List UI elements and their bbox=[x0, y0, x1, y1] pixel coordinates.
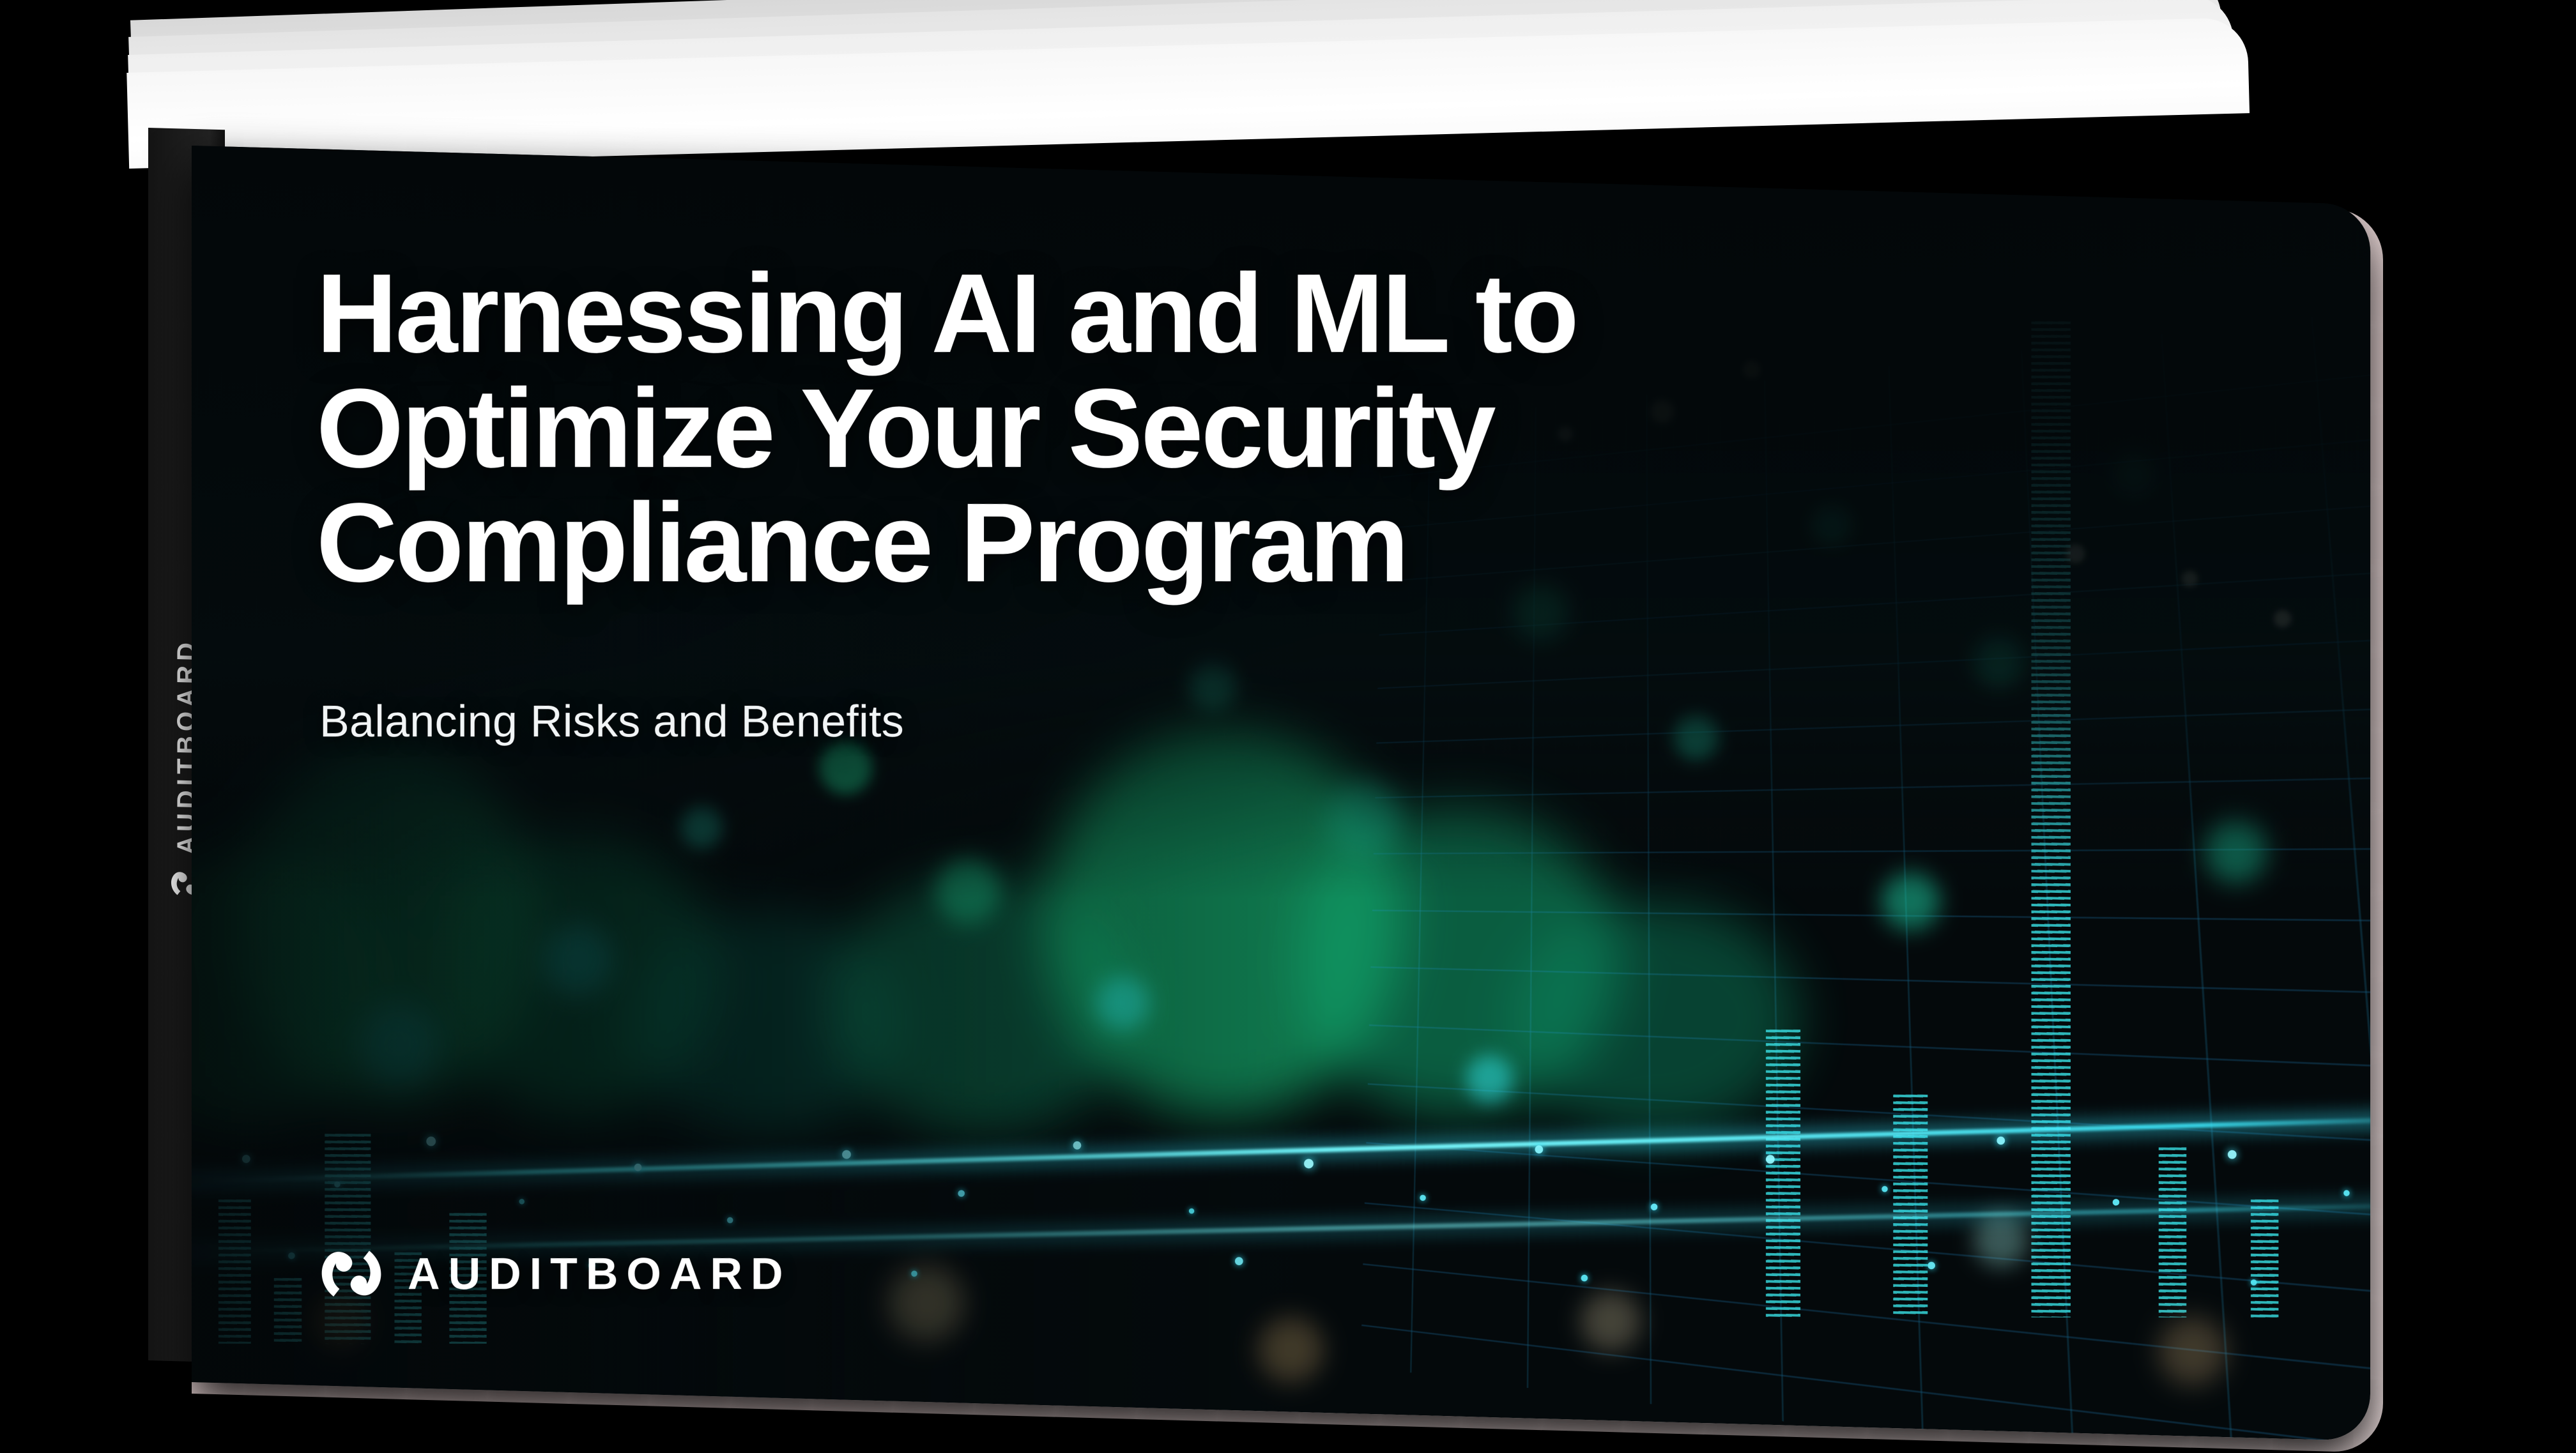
cover-title: Harnessing AI and ML to Optimize Your Se… bbox=[316, 257, 1913, 601]
cover-wordmark: AUDITBOARD bbox=[408, 1248, 792, 1299]
cover-title-line: Harnessing AI and ML to bbox=[316, 257, 1913, 372]
screenshot-canvas: AUDITBOARD bbox=[0, 0, 2576, 1449]
cover-text-layer: Harnessing AI and ML to Optimize Your Se… bbox=[192, 175, 2370, 1411]
cover-title-line: Compliance Program bbox=[316, 486, 1913, 601]
cover-subtitle: Balancing Risks and Benefits bbox=[319, 696, 904, 747]
page-stack bbox=[128, 19, 2255, 172]
cover-title-line: Optimize Your Security bbox=[316, 372, 1913, 487]
cover-brand-lockup: AUDITBOARD bbox=[317, 1239, 792, 1308]
auditboard-logo-mark-icon bbox=[317, 1239, 386, 1308]
ebook-3d-mockup: AUDITBOARD bbox=[0, 0, 2576, 1449]
book-front-cover: Harnessing AI and ML to Optimize Your Se… bbox=[192, 146, 2370, 1441]
